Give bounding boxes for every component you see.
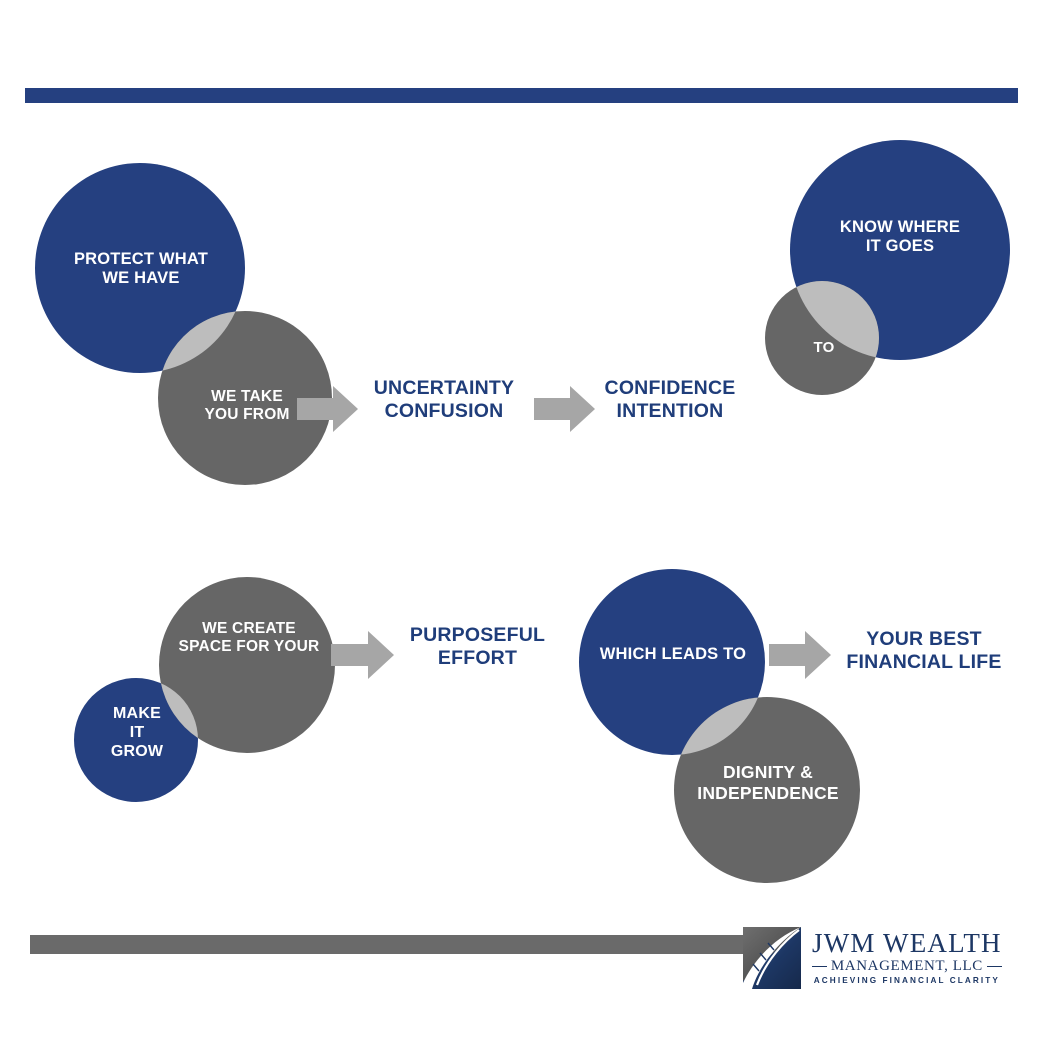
venn-group-protect — [35, 163, 332, 485]
venn-group-which-leads-to — [579, 569, 860, 883]
bottom-accent-bar — [30, 935, 750, 954]
venn-group-know-where — [765, 140, 1010, 395]
venn-group-we-create-space — [74, 577, 335, 802]
logo-subtitle-row: MANAGEMENT, LLC — [812, 959, 1002, 974]
logo-tagline: ACHIEVING FINANCIAL CLARITY — [814, 977, 1000, 985]
logo-rule-right — [987, 966, 1002, 967]
logo-subtitle: MANAGEMENT, LLC — [827, 959, 987, 974]
shapes-layer — [0, 0, 1042, 1042]
arrow-3-icon — [331, 631, 394, 679]
jwm-swoosh-square-icon — [742, 923, 804, 993]
company-logo: JWM WEALTH MANAGEMENT, LLC ACHIEVING FIN… — [742, 918, 1004, 998]
infographic-canvas: PROTECT WHAT WE HAVE WE TAKE YOU FROM KN… — [0, 0, 1042, 1042]
arrow-4-icon — [769, 631, 831, 679]
logo-company-name: JWM WEALTH — [812, 930, 1002, 957]
logo-rule-left — [812, 966, 827, 967]
logo-wordmark: JWM WEALTH MANAGEMENT, LLC ACHIEVING FIN… — [812, 930, 1002, 985]
arrow-2-icon — [534, 386, 595, 432]
